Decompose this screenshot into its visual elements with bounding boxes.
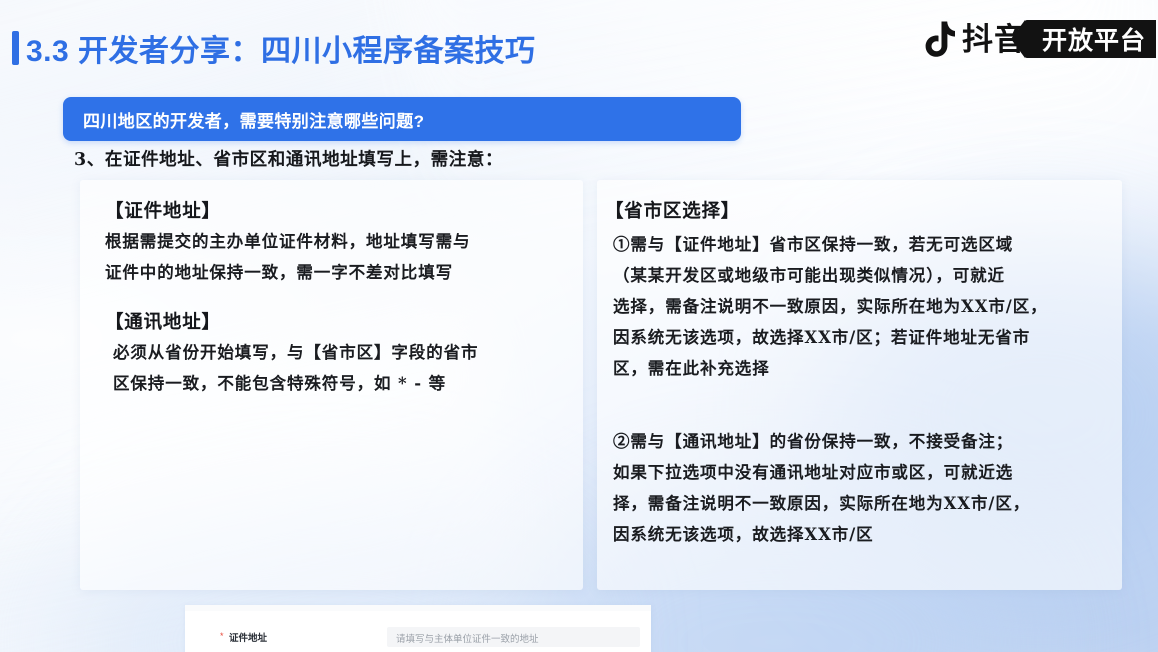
page-title: 3.3 开发者分享：四川小程序备案技巧: [26, 26, 536, 70]
region-item-1-line: 区，需在此补充选择: [613, 353, 1048, 384]
comm-address-body: 必须从省份开始填写，与【省市区】字段的省市 区保持一致，不能包含特殊符号，如 *…: [113, 337, 478, 399]
form-screenshot: * 证件地址 请填写与主体单位证件一致的地址 请填写与主体单位证件一致的地址 *…: [185, 605, 651, 652]
region-item-1-line: 因系统无该选项，故选择XX市/区；若证件地址无省市: [613, 322, 1048, 353]
cert-address-input[interactable]: 请填写与主体单位证件一致的地址: [387, 627, 640, 647]
region-item-1: ①需与【证件地址】省市区保持一致，若无可选区域 （某某开发区或地级市可能出现类似…: [613, 229, 1048, 384]
brand-platform-tag: 开放平台: [1024, 20, 1156, 58]
question-banner: 四川地区的开发者，需要特别注意哪些问题?: [63, 97, 741, 141]
comm-address-line: 必须从省份开始填写，与【省市区】字段的省市: [113, 337, 478, 368]
region-select-heading: 【省市区选择】: [605, 197, 740, 223]
tiktok-note-icon: [921, 20, 955, 58]
slide-header: 3.3 开发者分享：四川小程序备案技巧 抖音 开放平台: [0, 0, 1158, 84]
brand-logo: 抖音 开放平台: [921, 16, 1156, 62]
question-banner-text: 四川地区的开发者，需要特别注意哪些问题?: [83, 107, 424, 132]
title-accent-bar: [12, 31, 19, 65]
form-label-cert-address: 证件地址: [229, 630, 267, 644]
region-item-2-line: 如果下拉选项中没有通讯地址对应市或区，可就近选: [613, 457, 1030, 488]
cert-address-line: 根据需提交的主办单位证件材料，地址填写需与: [105, 226, 470, 257]
cert-address-body: 根据需提交的主办单位证件材料，地址填写需与 证件中的地址保持一致，需一字不差对比…: [105, 226, 470, 288]
region-item-1-line: 选择，需备注说明不一致原因，实际所在地为XX市/区，: [613, 291, 1048, 322]
cert-address-heading: 【证件地址】: [105, 197, 221, 223]
region-item-1-line: （某某开发区或地级市可能出现类似情况），可就近: [613, 260, 1048, 291]
intro-line: 3、在证件地址、省市区和通讯地址填写上，需注意：: [74, 146, 503, 171]
slide-canvas: 3.3 开发者分享：四川小程序备案技巧 抖音 开放平台 四川地区的开发者，需要特…: [0, 0, 1158, 652]
region-item-2-line: ②需与【通讯地址】的省份保持一致，不接受备注；: [613, 426, 1030, 457]
region-item-2: ②需与【通讯地址】的省份保持一致，不接受备注； 如果下拉选项中没有通讯地址对应市…: [613, 426, 1030, 550]
region-item-2-line: 择，需备注说明不一致原因，实际所在地为XX市/区，: [613, 488, 1030, 519]
cert-address-line: 证件中的地址保持一致，需一字不差对比填写: [105, 257, 470, 288]
region-item-1-line: ①需与【证件地址】省市区保持一致，若无可选区域: [613, 229, 1048, 260]
comm-address-heading: 【通讯地址】: [105, 308, 221, 334]
cert-address-placeholder: 请填写与主体单位证件一致的地址: [396, 631, 539, 645]
required-asterisk: *: [220, 632, 224, 641]
comm-address-line: 区保持一致，不能包含特殊符号，如 * - 等: [113, 368, 478, 399]
region-item-2-line: 因系统无该选项，故选择XX市/区: [613, 519, 1030, 550]
right-content-card: 【省市区选择】 ①需与【证件地址】省市区保持一致，若无可选区域 （某某开发区或地…: [597, 180, 1122, 590]
left-content-card: 【证件地址】 根据需提交的主办单位证件材料，地址填写需与 证件中的地址保持一致，…: [80, 180, 583, 590]
